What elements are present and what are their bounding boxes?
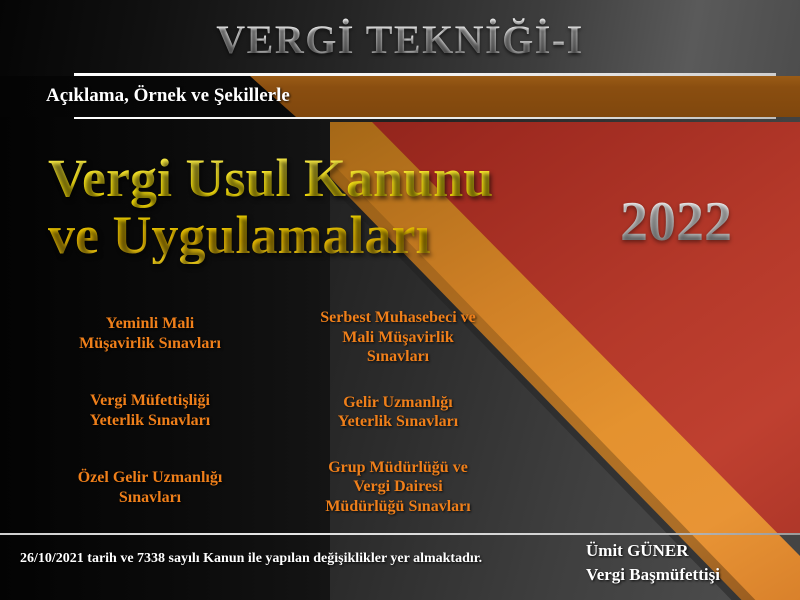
author-block: Ümit GÜNER Vergi Başmüfettişi <box>586 539 720 587</box>
exam-line: Serbest Muhasebeci ve <box>272 308 524 328</box>
exam-line: Yeterlik Sınavları <box>272 412 524 432</box>
header-divider-rule <box>74 73 776 76</box>
year-label: 2022 <box>620 190 732 254</box>
author-title: Vergi Başmüfettişi <box>586 563 720 587</box>
author-name: Ümit GÜNER <box>586 539 720 563</box>
exam-line: Yeminli Mali <box>28 314 272 334</box>
book-title-line-2: ve Uygulamaları <box>48 207 608 264</box>
exam-line: Yeterlik Sınavları <box>28 411 272 431</box>
exam-list-left-column: Yeminli Mali Müşavirlik Sınavları Vergi … <box>28 314 272 545</box>
book-title: Vergi Usul Kanunu ve Uygulamaları <box>48 150 608 264</box>
exam-line: Sınavları <box>272 347 524 367</box>
exam-line: Grup Müdürlüğü ve <box>272 458 524 478</box>
page-title: VERGİ TEKNİĞİ-I <box>0 16 800 63</box>
book-cover: VERGİ TEKNİĞİ-I Açıklama, Örnek ve Şekil… <box>0 0 800 600</box>
list-item: Serbest Muhasebeci ve Mali Müşavirlik Sı… <box>272 308 524 367</box>
exam-line: Vergi Müfettişliği <box>28 391 272 411</box>
list-item: Vergi Müfettişliği Yeterlik Sınavları <box>28 391 272 430</box>
list-item: Özel Gelir Uzmanlığı Sınavları <box>28 468 272 507</box>
subtitle-divider-rule <box>74 117 776 119</box>
list-item: Yeminli Mali Müşavirlik Sınavları <box>28 314 272 353</box>
exam-line: Sınavları <box>28 488 272 508</box>
subtitle-text: Açıklama, Örnek ve Şekillerle <box>46 85 290 107</box>
exam-line: Vergi Dairesi <box>272 477 524 497</box>
exam-line: Özel Gelir Uzmanlığı <box>28 468 272 488</box>
footer-note: 26/10/2021 tarih ve 7338 sayılı Kanun il… <box>20 551 482 567</box>
list-item: Gelir Uzmanlığı Yeterlik Sınavları <box>272 393 524 432</box>
exam-list-right-column: Serbest Muhasebeci ve Mali Müşavirlik Sı… <box>272 308 524 542</box>
exam-line: Müşavirlik Sınavları <box>28 334 272 354</box>
list-item: Grup Müdürlüğü ve Vergi Dairesi Müdürlüğ… <box>272 458 524 517</box>
exam-line: Gelir Uzmanlığı <box>272 393 524 413</box>
exam-line: Müdürlüğü Sınavları <box>272 497 524 517</box>
book-title-line-1: Vergi Usul Kanunu <box>48 150 608 207</box>
exam-line: Mali Müşavirlik <box>272 328 524 348</box>
